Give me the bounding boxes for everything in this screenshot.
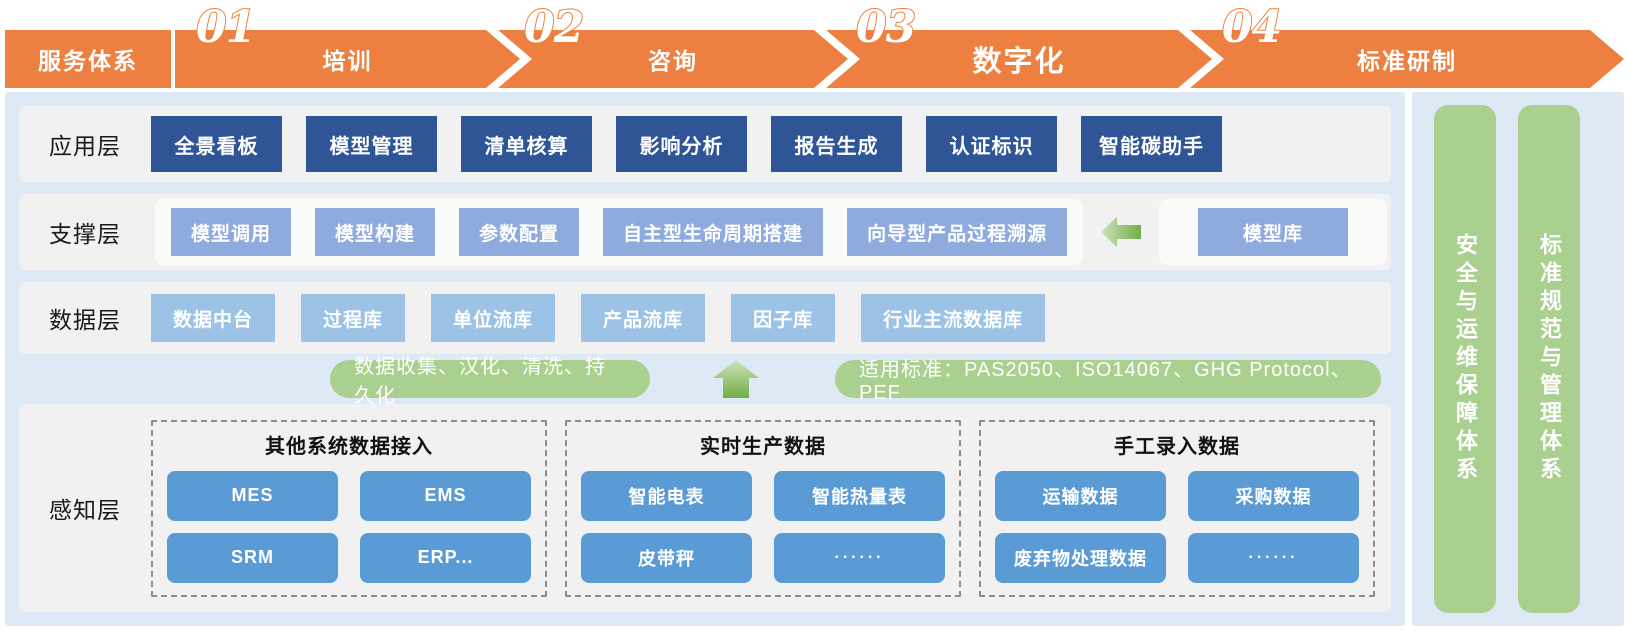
side-bar-standards-label: 标准规范与管理体系 bbox=[1538, 233, 1560, 485]
support-item-3[interactable]: 自主型生命周期搭建 bbox=[603, 208, 823, 256]
support-item-0[interactable]: 模型调用 bbox=[171, 208, 291, 256]
application-layer-items: 全景看板 模型管理 清单核算 影响分析 报告生成 认证标识 智能碳助手 bbox=[151, 116, 1222, 172]
data-item-5[interactable]: 行业主流数据库 bbox=[861, 294, 1045, 342]
app-item-3[interactable]: 影响分析 bbox=[616, 116, 747, 172]
data-layer-row: 数据层 数据中台 过程库 单位流库 产品流库 因子库 行业主流数据库 bbox=[19, 282, 1391, 354]
app-item-6[interactable]: 智能碳助手 bbox=[1081, 116, 1222, 172]
side-bar-standards[interactable]: 标准规范与管理体系 bbox=[1518, 105, 1580, 613]
perception-chip-1-0[interactable]: 智能电表 bbox=[581, 471, 752, 521]
data-item-1[interactable]: 过程库 bbox=[301, 294, 405, 342]
perception-groups: 其他系统数据接入 MES EMS SRM ERP... 实时生产数据 智能电表 … bbox=[151, 420, 1391, 597]
support-library-wrap: 模型库 bbox=[1159, 199, 1387, 265]
support-layer-row: 支撑层 模型调用 模型构建 参数配置 自主型生命周期搭建 向导型产品过程溯源 bbox=[19, 194, 1391, 270]
perception-chip-2-0[interactable]: 运输数据 bbox=[995, 471, 1166, 521]
arrow-left-icon bbox=[1099, 212, 1143, 252]
perception-chip-0-1[interactable]: EMS bbox=[360, 471, 531, 521]
perception-group-0-items: MES EMS SRM ERP... bbox=[167, 471, 531, 583]
process-banner: 服务体系 培训 咨询 数字化 标准研制 01 02 03 04 bbox=[0, 0, 1627, 88]
side-bar-security[interactable]: 安全与运维保障体系 bbox=[1434, 105, 1496, 613]
perception-group-2-title: 手工录入数据 bbox=[1114, 430, 1240, 459]
banner-step-2-label: 咨询 bbox=[648, 42, 698, 76]
perception-group-2-items: 运输数据 采购数据 废弃物处理数据 ······ bbox=[995, 471, 1359, 583]
data-layer-label: 数据层 bbox=[19, 301, 151, 335]
support-layer-items: 模型调用 模型构建 参数配置 自主型生命周期搭建 向导型产品过程溯源 bbox=[155, 199, 1083, 265]
support-model-library[interactable]: 模型库 bbox=[1198, 208, 1348, 256]
arrow-up-icon bbox=[711, 356, 761, 402]
perception-chip-2-1[interactable]: 采购数据 bbox=[1188, 471, 1359, 521]
banner-service-system-label: 服务体系 bbox=[38, 42, 138, 76]
perception-group-2: 手工录入数据 运输数据 采购数据 废弃物处理数据 ······ bbox=[979, 420, 1375, 597]
side-bar-security-label: 安全与运维保障体系 bbox=[1454, 233, 1476, 485]
perception-chip-2-2[interactable]: 废弃物处理数据 bbox=[995, 533, 1166, 583]
perception-chip-0-2[interactable]: SRM bbox=[167, 533, 338, 583]
app-item-4[interactable]: 报告生成 bbox=[771, 116, 902, 172]
standards-pill: 适用标准：PAS2050、ISO14067、GHG Protocol、PEF bbox=[835, 360, 1381, 398]
process-pill: 数据收集、汉化、清洗、持久化 bbox=[330, 360, 650, 398]
perception-chip-0-3[interactable]: ERP... bbox=[360, 533, 531, 583]
perception-group-0-title: 其他系统数据接入 bbox=[265, 430, 433, 459]
perception-group-1-title: 实时生产数据 bbox=[700, 430, 826, 459]
perception-group-0: 其他系统数据接入 MES EMS SRM ERP... bbox=[151, 420, 547, 597]
banner-service-system[interactable]: 服务体系 bbox=[5, 30, 171, 88]
perception-chip-1-2[interactable]: 皮带秤 bbox=[581, 533, 752, 583]
banner-step-3-label: 数字化 bbox=[972, 38, 1065, 80]
data-item-0[interactable]: 数据中台 bbox=[151, 294, 275, 342]
app-item-2[interactable]: 清单核算 bbox=[461, 116, 592, 172]
application-layer-row: 应用层 全景看板 模型管理 清单核算 影响分析 报告生成 认证标识 智能碳助手 bbox=[19, 106, 1391, 182]
architecture-diagram: 服务体系 培训 咨询 数字化 标准研制 01 02 03 04 应用层 全景看板… bbox=[0, 0, 1627, 631]
layer-stack: 应用层 全景看板 模型管理 清单核算 影响分析 报告生成 认证标识 智能碳助手 … bbox=[5, 92, 1405, 626]
banner-step-4-label: 标准研制 bbox=[1357, 42, 1457, 76]
banner-step-1-number: 01 bbox=[196, 2, 255, 53]
banner-step-4-number: 04 bbox=[1222, 2, 1281, 53]
app-item-0[interactable]: 全景看板 bbox=[151, 116, 282, 172]
perception-chip-1-1[interactable]: 智能热量表 bbox=[774, 471, 945, 521]
side-systems: 安全与运维保障体系 标准规范与管理体系 bbox=[1412, 92, 1624, 626]
data-item-3[interactable]: 产品流库 bbox=[581, 294, 705, 342]
perception-chip-1-3[interactable]: ······ bbox=[774, 533, 945, 583]
perception-group-1: 实时生产数据 智能电表 智能热量表 皮带秤 ······ bbox=[565, 420, 961, 597]
pill-strip: 数据收集、汉化、清洗、持久化 适用标准：PAS2050、ISO14067、GHG… bbox=[19, 360, 1391, 400]
app-item-1[interactable]: 模型管理 bbox=[306, 116, 437, 172]
support-item-1[interactable]: 模型构建 bbox=[315, 208, 435, 256]
perception-group-1-items: 智能电表 智能热量表 皮带秤 ······ bbox=[581, 471, 945, 583]
banner-step-3-number: 03 bbox=[856, 2, 915, 53]
perception-layer-label: 感知层 bbox=[19, 491, 151, 525]
banner-step-2-number: 02 bbox=[524, 2, 583, 53]
banner-step-1-label: 培训 bbox=[323, 42, 373, 76]
support-item-2[interactable]: 参数配置 bbox=[459, 208, 579, 256]
perception-layer-row: 感知层 其他系统数据接入 MES EMS SRM ERP... 实时生产数据 智… bbox=[19, 404, 1391, 612]
application-layer-label: 应用层 bbox=[19, 127, 151, 161]
data-item-4[interactable]: 因子库 bbox=[731, 294, 835, 342]
perception-chip-0-0[interactable]: MES bbox=[167, 471, 338, 521]
data-layer-items: 数据中台 过程库 单位流库 产品流库 因子库 行业主流数据库 bbox=[151, 294, 1045, 342]
data-item-2[interactable]: 单位流库 bbox=[431, 294, 555, 342]
support-layer-label: 支撑层 bbox=[19, 215, 151, 249]
support-item-4[interactable]: 向导型产品过程溯源 bbox=[847, 208, 1067, 256]
app-item-5[interactable]: 认证标识 bbox=[926, 116, 1057, 172]
perception-chip-2-3[interactable]: ······ bbox=[1188, 533, 1359, 583]
